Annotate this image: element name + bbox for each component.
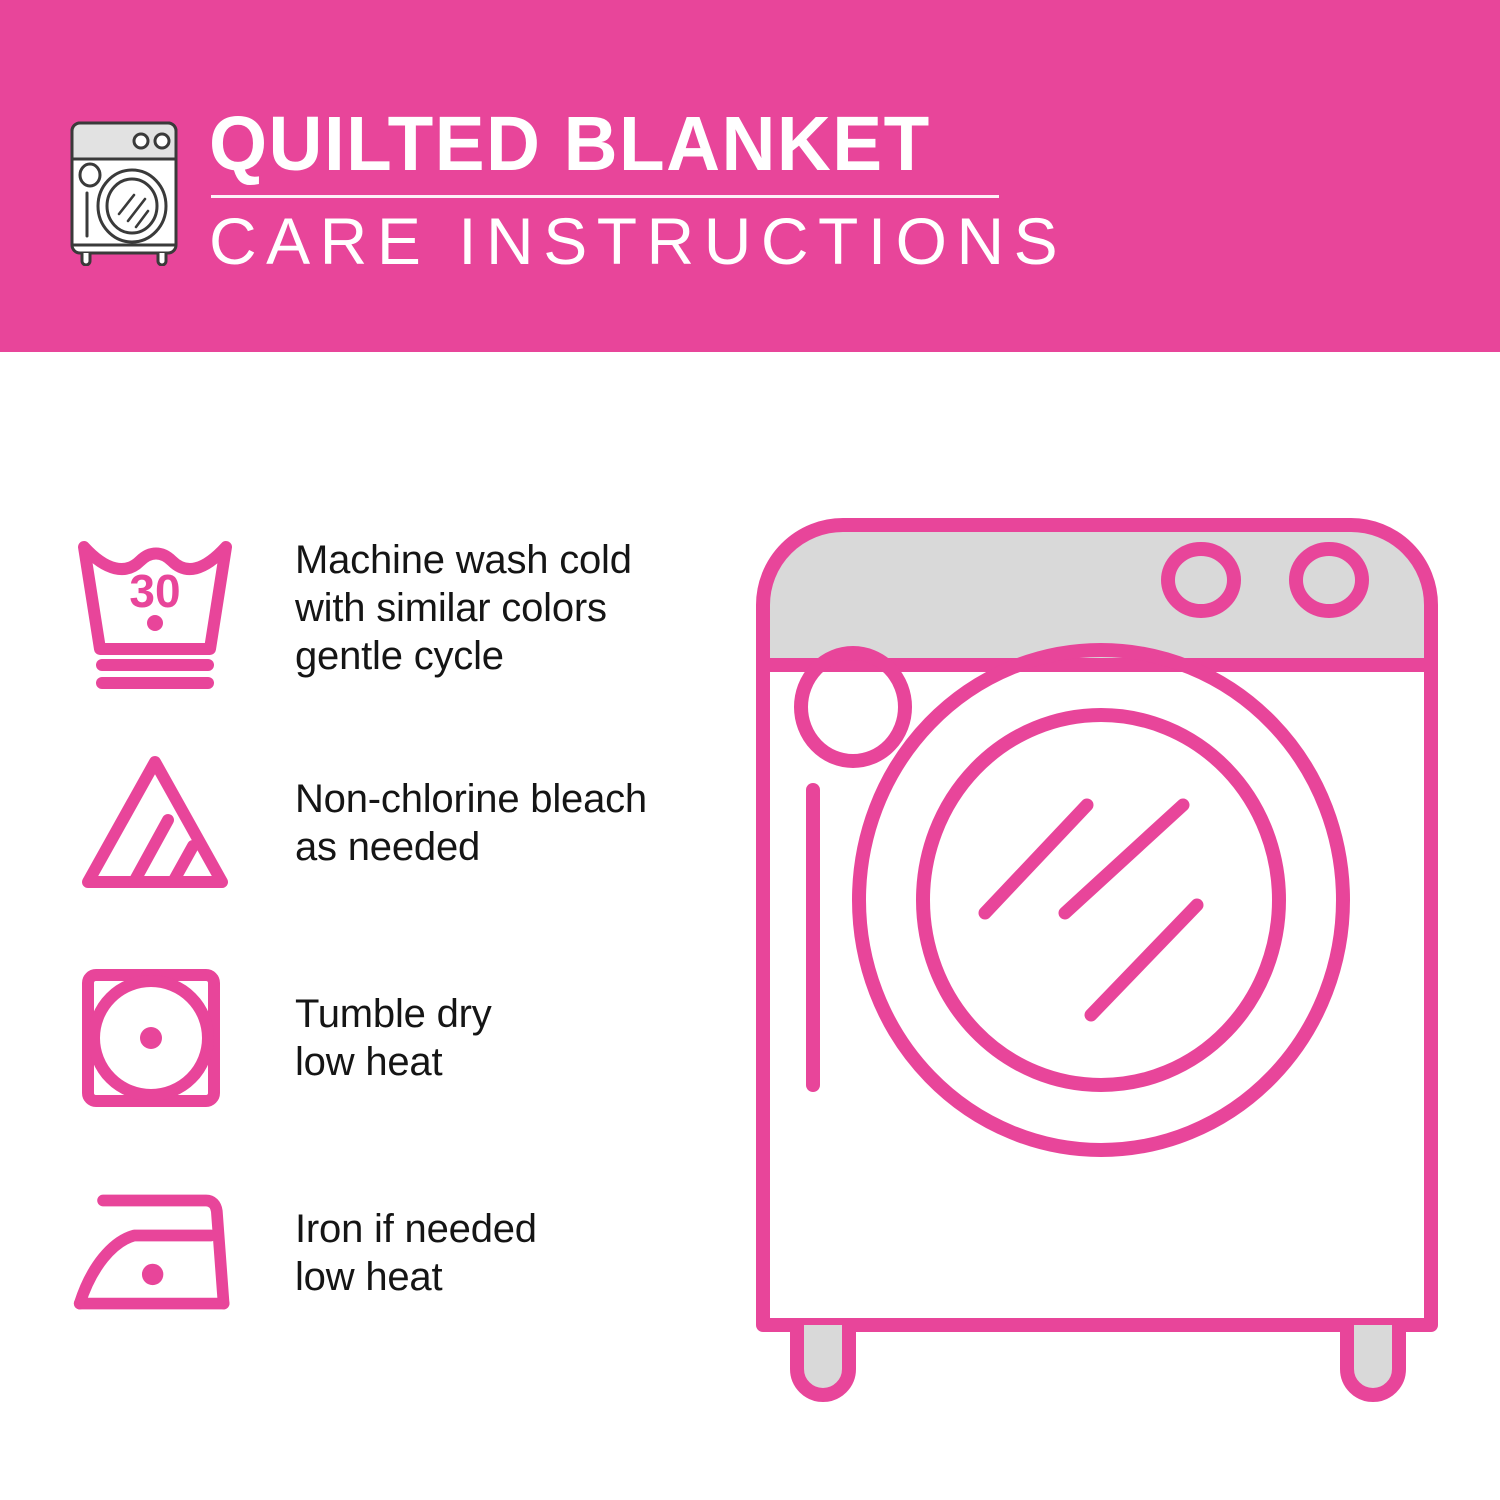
wash-temperature-label: 30 — [129, 565, 180, 617]
wash-tub-30-icon: 30 — [70, 525, 245, 690]
care-text-iron: Iron if needed low heat — [295, 1205, 537, 1301]
tumble-dry-low-icon — [70, 963, 245, 1113]
iron-low-heat-icon — [70, 1183, 245, 1323]
title-divider — [211, 195, 999, 198]
care-row-tumble-dry: Tumble dry low heat — [70, 930, 730, 1145]
header-content: QUILTED BLANKET CARE INSTRUCTIONS — [62, 104, 1067, 278]
header-title-group: QUILTED BLANKET CARE INSTRUCTIONS — [209, 104, 1067, 278]
care-row-iron: Iron if needed low heat — [70, 1145, 730, 1360]
washer-leg-left — [797, 1325, 849, 1395]
washer-drum-inner — [923, 715, 1279, 1085]
header-banner: QUILTED BLANKET CARE INSTRUCTIONS — [0, 0, 1500, 352]
front-load-washing-machine-illustration — [735, 495, 1455, 1425]
care-text-machine-wash: Machine wash cold with similar colors ge… — [295, 536, 632, 680]
washer-leg-right — [1347, 1325, 1399, 1395]
page-subtitle: CARE INSTRUCTIONS — [209, 204, 1067, 278]
care-text-bleach: Non-chlorine bleach as needed — [295, 775, 647, 871]
washing-machine-icon — [62, 111, 187, 266]
non-chlorine-bleach-triangle-icon — [70, 748, 245, 898]
care-row-machine-wash: 30 Machine wash cold with similar colors… — [70, 500, 730, 715]
washer-drum-outer — [859, 650, 1343, 1150]
care-text-tumble-dry: Tumble dry low heat — [295, 990, 492, 1086]
care-row-bleach: Non-chlorine bleach as needed — [70, 715, 730, 930]
page-title: QUILTED BLANKET — [209, 104, 1041, 184]
care-instruction-list: 30 Machine wash cold with similar colors… — [70, 500, 730, 1360]
washer-drum-slashes — [985, 805, 1197, 1015]
